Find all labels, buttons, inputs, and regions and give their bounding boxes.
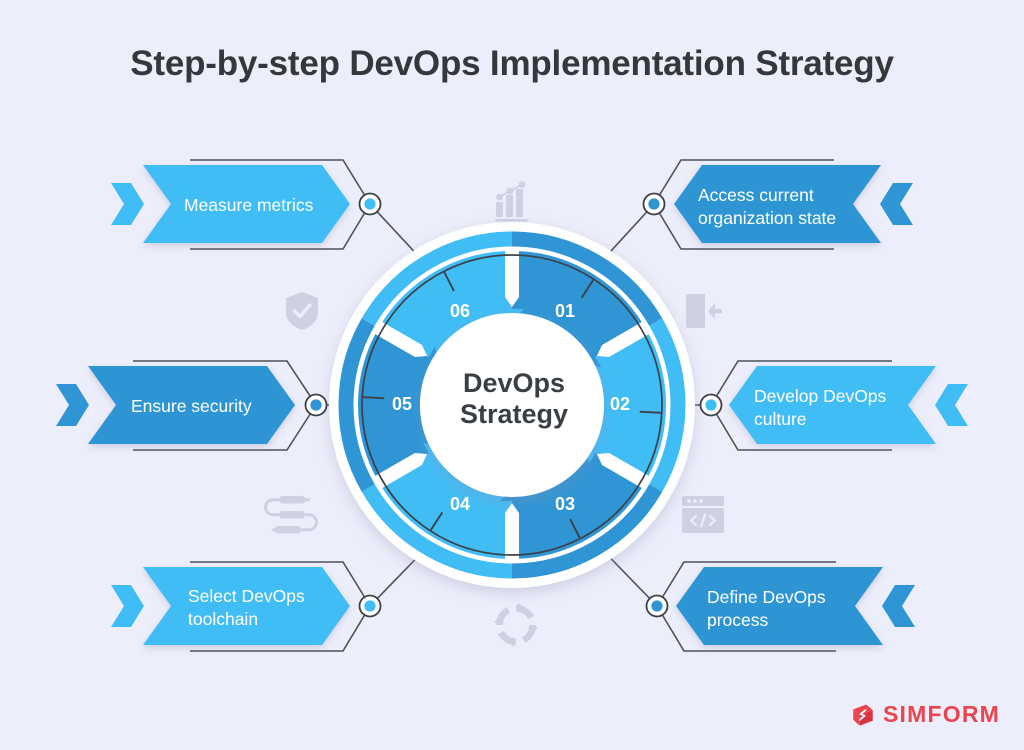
wheel-step-number-01: 01 — [545, 301, 585, 322]
connector-node-03[interactable] — [647, 596, 668, 617]
connector-node-05[interactable] — [306, 395, 327, 416]
wheel-step-number-02: 02 — [600, 394, 640, 415]
step-label-04: Select DevOps toolchain — [188, 585, 348, 631]
wheel-step-number-03: 03 — [545, 494, 585, 515]
infographic-canvas: Step-by-step DevOps Implementation Strat… — [0, 0, 1024, 750]
step-label-05: Ensure security — [131, 395, 291, 418]
step-accent-03 — [882, 585, 915, 627]
step-accent-05 — [56, 384, 89, 426]
connector-node-06[interactable] — [360, 194, 381, 215]
step-accent-01 — [880, 183, 913, 225]
wheel-center-label: DevOps Strategy — [420, 368, 608, 431]
wheel-step-number-06: 06 — [440, 301, 480, 322]
step-accent-04 — [111, 585, 144, 627]
step-label-02: Develop DevOps culture — [754, 385, 919, 431]
step-label-06: Measure metrics — [184, 194, 344, 217]
brand-wordmark: SIMFORM — [883, 701, 1000, 728]
step-label-03: Define DevOps process — [707, 586, 872, 632]
wheel-step-number-05: 05 — [382, 394, 422, 415]
wheel-step-number-04: 04 — [440, 494, 480, 515]
step-label-01: Access current organization state — [698, 184, 868, 230]
connector-node-04[interactable] — [360, 596, 381, 617]
step-accent-06 — [111, 183, 144, 225]
simform-mark-icon — [850, 702, 876, 728]
connector-node-01[interactable] — [644, 194, 665, 215]
brand-logo[interactable]: SIMFORM — [850, 701, 1000, 728]
step-accent-02 — [935, 384, 968, 426]
connector-node-02[interactable] — [701, 395, 722, 416]
